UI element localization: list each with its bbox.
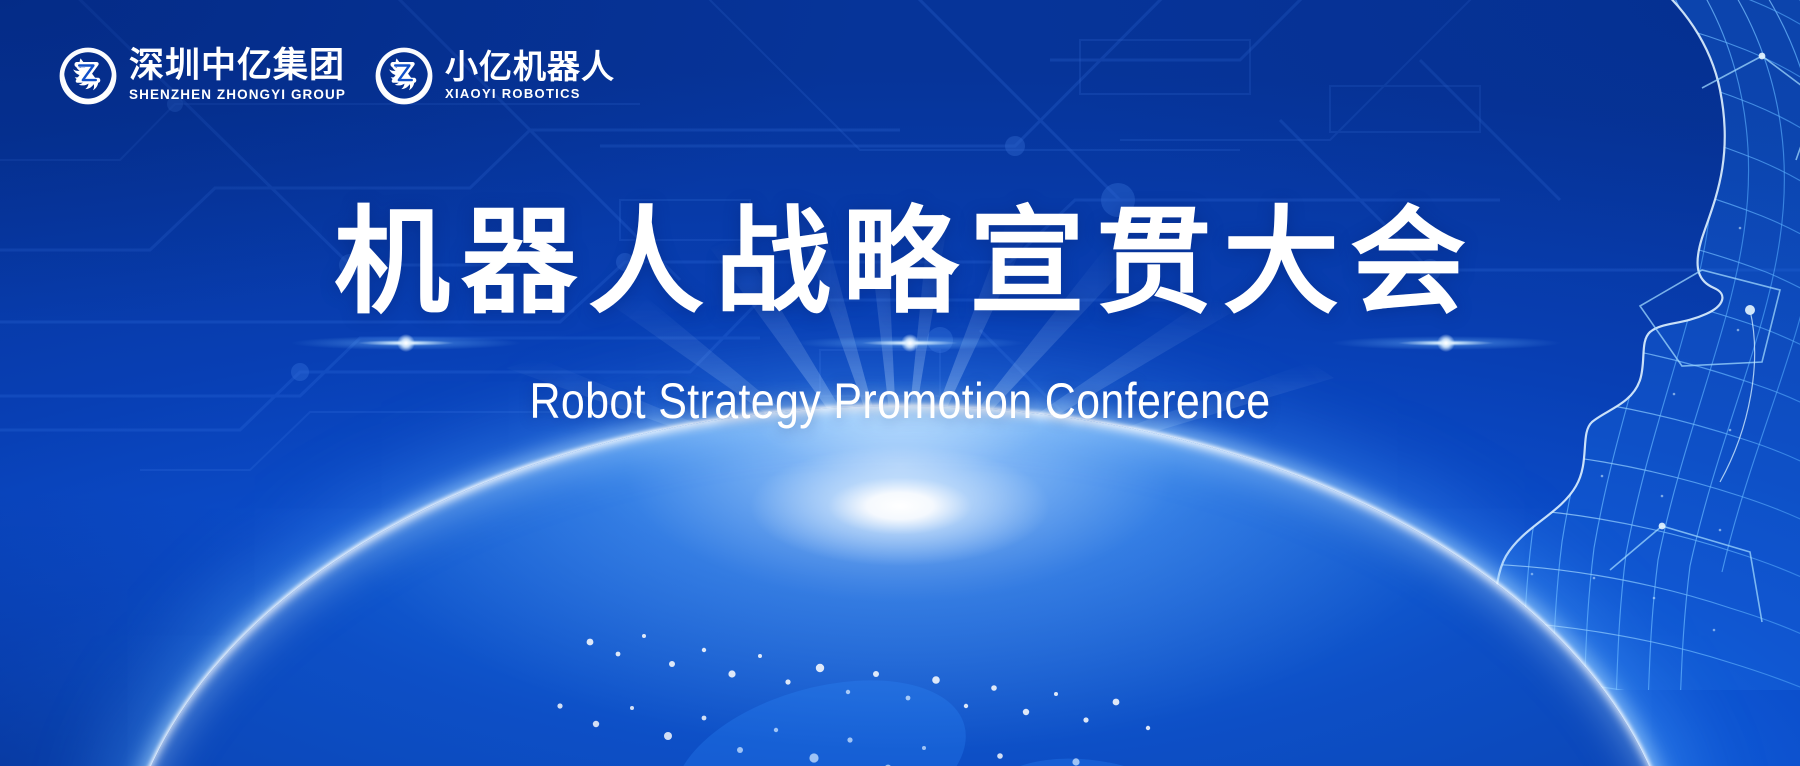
logo-bar: 深圳中亿集团 SHENZHEN ZHONGYI GROUP 小亿机器人 XIAO… [56,44,615,108]
logo-name-cn: 深圳中亿集团 [129,48,346,84]
logo-text-group: 深圳中亿集团 SHENZHEN ZHONGYI GROUP [129,48,346,103]
background-vignette [0,0,1800,766]
conference-poster: 深圳中亿集团 SHENZHEN ZHONGYI GROUP 小亿机器人 XIAO… [0,0,1800,766]
logo-text-robotics: 小亿机器人 XIAOYI ROBOTICS [445,50,615,103]
logo-name-en: XIAOYI ROBOTICS [445,86,615,102]
logo-xiaoyi-robotics[interactable]: 小亿机器人 XIAOYI ROBOTICS [372,44,615,108]
logo-name-en: SHENZHEN ZHONGYI GROUP [129,87,346,104]
xiaoyi-emblem-icon [372,44,436,108]
logo-shenzhen-zhongyi-group[interactable]: 深圳中亿集团 SHENZHEN ZHONGYI GROUP [56,44,346,108]
logo-name-cn: 小亿机器人 [445,50,615,84]
zhongyi-emblem-icon [56,44,120,108]
